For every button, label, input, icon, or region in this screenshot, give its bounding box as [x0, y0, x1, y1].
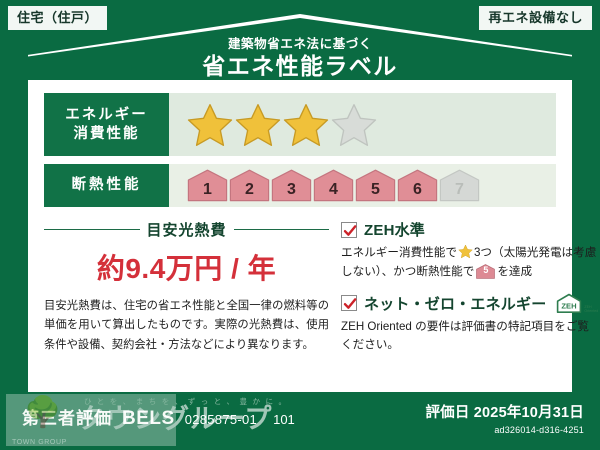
footer-evaluation-date: 評価日 2025年10月31日: [425, 401, 584, 422]
footer-date-value: 2025年10月31日: [474, 405, 584, 421]
insulation-house-level-text: 2: [229, 169, 270, 202]
zeh-logo: ZEH ZEH Oriented: [556, 293, 598, 314]
insulation-house-level-text: 6: [397, 169, 438, 202]
footer-date-label: 評価日: [425, 405, 469, 421]
star-filled-icon: [283, 102, 329, 148]
insulation-house-4: 4: [313, 169, 354, 202]
check-zeh-standard: ZEH水準 エネルギー消費性能で3つ（太陽光発電は考慮しない）、かつ断熱性能で5…: [341, 219, 598, 282]
energy-performance-label: 住宅（住戸） 再エネ設備なし 建築物省エネ法に基づく 省エネ性能ラベル エネルギ…: [0, 0, 600, 450]
footer-bels-label: BELS: [122, 408, 175, 430]
star-rating: [169, 93, 556, 156]
zeh-body-part1: エネルギー消費性能で: [341, 246, 457, 259]
footer-unit-number: 101: [273, 412, 295, 427]
performance-rows: エネルギー 消費性能 断熱性能 1234567: [44, 93, 556, 207]
check-net-zero-title: ネット・ゼロ・エネルギー: [364, 293, 546, 314]
utility-cost-note: 目安光熱費は、住宅の省エネ性能と全国一律の燃料等の単価を用いて算出したものです。…: [44, 297, 329, 355]
insulation-house-level-text: 3: [271, 169, 312, 202]
lower-section: 目安光熱費 約9.4万円 / 年 目安光熱費は、住宅の省エネ性能と全国一律の燃料…: [44, 217, 556, 355]
zeh-logo-sub2: Oriented: [584, 309, 598, 313]
badge-renewable-equipment: 再エネ設備なし: [479, 6, 592, 30]
label-subtitle: 建築物省エネ法に基づく: [0, 38, 600, 52]
inline-house-level: 5: [476, 264, 495, 279]
inline-star-icon: [458, 244, 473, 259]
insulation-house-level-text: 1: [187, 169, 228, 202]
checkbox-net-zero-energy[interactable]: [341, 295, 357, 311]
check-zeh-standard-title-row: ZEH水準: [341, 219, 598, 240]
row-energy-label-line2: 消費性能: [74, 125, 140, 143]
insulation-house-level-text: 5: [355, 169, 396, 202]
svg-text:ZEH: ZEH: [562, 301, 577, 310]
row-energy-performance: エネルギー 消費性能: [44, 93, 556, 156]
label-title: 省エネ性能ラベル: [0, 54, 600, 79]
check-zeh-standard-body: エネルギー消費性能で3つ（太陽光発電は考慮しない）、かつ断熱性能で5を達成: [341, 244, 598, 282]
label-title-block: 建築物省エネ法に基づく 省エネ性能ラベル: [0, 38, 600, 79]
insulation-house-7: 7: [439, 169, 480, 202]
insulation-house-strip: 1234567: [187, 169, 480, 202]
footer-evaluation-info: 第三者評価 BELS 0285875-01 101: [22, 404, 295, 430]
star-filled-icon: [235, 102, 281, 148]
footer-bels-number: 0285875-01: [185, 412, 257, 427]
badge-building-type: 住宅（住戸）: [8, 6, 107, 30]
label-body-card: エネルギー 消費性能 断熱性能 1234567 目安光熱費: [28, 80, 572, 392]
utility-cost-block: 目安光熱費 約9.4万円 / 年 目安光熱費は、住宅の省エネ性能と全国一律の燃料…: [44, 217, 329, 355]
insulation-house-level-text: 7: [439, 169, 480, 202]
footer-third-party-label: 第三者評価: [22, 404, 112, 429]
check-net-zero-energy: ネット・ゼロ・エネルギー ZEH ZEH Oriented: [341, 293, 598, 356]
footer-document-id: ad326014-d316-4251: [425, 425, 584, 435]
inline-house-badge: 5: [476, 264, 495, 279]
row-insulation-label: 断熱性能: [44, 164, 169, 207]
row-energy-label: エネルギー 消費性能: [44, 93, 169, 156]
insulation-scale: 1234567: [169, 164, 556, 207]
rule-left: [44, 229, 140, 230]
star-empty-icon: [331, 102, 377, 148]
certification-checks: ZEH水準 エネルギー消費性能で3つ（太陽光発電は考慮しない）、かつ断熱性能で5…: [341, 217, 598, 355]
label-footer: 第三者評価 BELS 0285875-01 101 評価日 2025年10月31…: [0, 392, 600, 450]
insulation-house-2: 2: [229, 169, 270, 202]
rule-right: [234, 229, 330, 230]
insulation-house-1: 1: [187, 169, 228, 202]
insulation-house-5: 5: [355, 169, 396, 202]
insulation-house-3: 3: [271, 169, 312, 202]
footer-date-block: 評価日 2025年10月31日 ad326014-d316-4251: [425, 401, 584, 435]
insulation-house-6: 6: [397, 169, 438, 202]
check-zeh-standard-title: ZEH水準: [364, 219, 425, 240]
insulation-house-level-text: 4: [313, 169, 354, 202]
star-filled-icon: [187, 102, 233, 148]
watermark-company-sub: TOWN GROUP: [12, 439, 67, 446]
row-insulation-performance: 断熱性能 1234567: [44, 164, 556, 207]
row-energy-label-line1: エネルギー: [65, 106, 148, 124]
check-net-zero-title-row: ネット・ゼロ・エネルギー ZEH ZEH Oriented: [341, 293, 598, 314]
zeh-body-part3: を達成: [497, 265, 532, 278]
utility-cost-heading: 目安光熱費: [44, 219, 329, 240]
utility-cost-amount: 約9.4万円 / 年: [44, 247, 329, 287]
utility-cost-heading-text: 目安光熱費: [147, 219, 227, 240]
check-net-zero-body: ZEH Oriented の要件は評価書の特記項目をご覧ください。: [341, 318, 598, 356]
checkbox-zeh-standard[interactable]: [341, 222, 357, 238]
